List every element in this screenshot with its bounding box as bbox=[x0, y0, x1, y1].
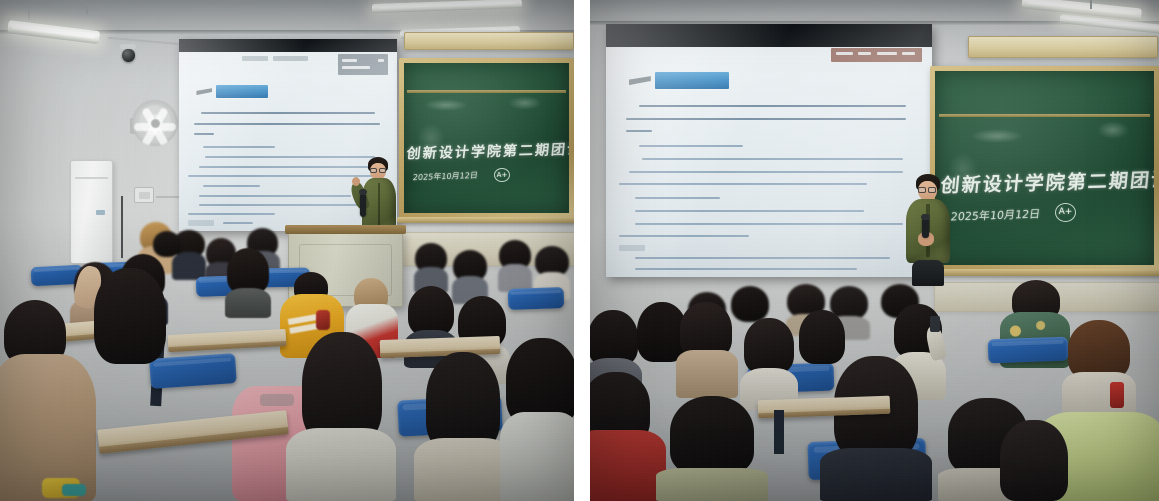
blackboard-date-text: 2025年10月12日 bbox=[950, 205, 1041, 224]
student bbox=[84, 268, 180, 428]
slide-text-line bbox=[642, 158, 903, 160]
slide-text-line bbox=[199, 166, 378, 168]
student bbox=[498, 240, 532, 292]
hoodie-graphic bbox=[316, 310, 330, 330]
slide-text-line bbox=[635, 197, 720, 199]
slide-text-line bbox=[194, 133, 214, 135]
glasses-icon bbox=[918, 187, 936, 193]
student-hair bbox=[1068, 320, 1130, 380]
slide-text-line bbox=[629, 171, 903, 173]
slide-text-line bbox=[201, 112, 375, 114]
ac-indicator bbox=[96, 210, 105, 215]
slide-heading bbox=[629, 72, 729, 89]
student bbox=[590, 372, 666, 501]
blackboard-title-text: 创新设计学院第二期团课 bbox=[939, 165, 1154, 198]
slide-text-line bbox=[626, 118, 906, 120]
slide-text-line bbox=[203, 146, 275, 148]
student-torso bbox=[656, 468, 768, 501]
air-conditioner-unit bbox=[70, 160, 113, 264]
student-hoodie bbox=[500, 412, 574, 501]
screen-glare bbox=[606, 24, 932, 277]
student-torso bbox=[286, 428, 396, 501]
slide-heading-number bbox=[196, 88, 212, 95]
slide-heading-highlight bbox=[655, 72, 729, 89]
chalk-smudge bbox=[508, 96, 542, 110]
slide-toolbar-badge bbox=[831, 48, 922, 62]
student-torso bbox=[414, 438, 514, 501]
lamp-hanger bbox=[86, 2, 88, 14]
slide-text-line bbox=[626, 130, 652, 132]
slide-text-line bbox=[188, 175, 373, 177]
lecture-seat bbox=[988, 337, 1069, 364]
presenter bbox=[900, 174, 960, 286]
slide-heading bbox=[196, 85, 268, 98]
presenter-lower bbox=[912, 260, 944, 286]
chalk-smudge bbox=[1097, 121, 1129, 139]
student-hair bbox=[1000, 420, 1068, 501]
blackboard: 创新设计学院第二期团课 2025年10月12日 A+ bbox=[935, 71, 1154, 265]
slide-text-line bbox=[635, 257, 889, 259]
slide-text-line bbox=[619, 235, 749, 237]
board-top-panel bbox=[968, 36, 1158, 58]
red-lanyard bbox=[1110, 382, 1124, 408]
slide-text-line bbox=[619, 183, 867, 185]
lecture-seat bbox=[508, 287, 565, 310]
slide-corner-badge bbox=[338, 54, 388, 75]
student bbox=[500, 338, 574, 501]
two-photo-composite: 创新设计学院第二期团课 2025年10月12日 A+ bbox=[0, 0, 1159, 501]
student-hair bbox=[670, 396, 754, 474]
right-photo: 创新设计学院第二期团课 2025年10月12日 A+ bbox=[590, 0, 1159, 501]
chalk-tray bbox=[928, 269, 1159, 276]
blackboard-frame: 创新设计学院第二期团课 2025年10月12日 A+ bbox=[399, 58, 574, 218]
slide-topbar bbox=[606, 24, 932, 47]
blackboard-rail bbox=[939, 114, 1149, 117]
student-hair bbox=[408, 286, 454, 336]
projection-screen-frame bbox=[606, 24, 932, 277]
projection-screen bbox=[606, 24, 932, 277]
slide-text-line bbox=[188, 213, 275, 215]
student bbox=[656, 396, 768, 501]
student-torso bbox=[225, 288, 271, 318]
blackboard-signature: A+ bbox=[494, 168, 510, 182]
fan-hub bbox=[151, 119, 160, 128]
security-camera-icon bbox=[122, 49, 135, 62]
chalk-smudge bbox=[424, 99, 468, 111]
slide-text-line bbox=[639, 105, 906, 107]
student-brown-hair bbox=[1062, 320, 1136, 426]
student bbox=[414, 352, 514, 501]
desk-leg bbox=[774, 410, 784, 454]
slide-subsection-tag bbox=[188, 220, 214, 226]
wall-outlet bbox=[134, 187, 154, 203]
slide-text-line bbox=[205, 156, 375, 158]
student bbox=[286, 332, 396, 501]
board-top-panel bbox=[404, 32, 574, 50]
teal-object-on-desk bbox=[62, 484, 86, 496]
podium-top bbox=[285, 225, 406, 234]
student bbox=[225, 248, 271, 318]
slide-text-line bbox=[639, 145, 743, 147]
student-torso bbox=[676, 350, 738, 398]
chalk-tray bbox=[397, 217, 574, 223]
student-face-mask bbox=[676, 302, 738, 398]
lamp-hanger bbox=[28, 4, 30, 20]
slide-heading-highlight bbox=[216, 85, 268, 98]
slide-text-line bbox=[194, 123, 379, 125]
slide-text-line bbox=[223, 222, 254, 224]
slide-text-line bbox=[635, 210, 863, 212]
slide-text-line bbox=[635, 223, 902, 225]
student bbox=[994, 420, 1074, 501]
hanging-cable bbox=[121, 196, 123, 258]
blackboard-title-text: 创新设计学院第二期团课 bbox=[406, 139, 569, 164]
lamp-hanger bbox=[1090, 0, 1092, 9]
blackboard-frame: 创新设计学院第二期团课 2025年10月12日 A+ bbox=[930, 66, 1159, 270]
wall-fan-icon bbox=[132, 100, 178, 146]
blackboard-signature: A+ bbox=[1055, 203, 1076, 222]
slide-heading-number bbox=[629, 76, 651, 85]
student-hair bbox=[94, 268, 166, 364]
student-hair bbox=[426, 352, 500, 452]
slide-subsection-tag bbox=[619, 245, 645, 251]
blackboard: 创新设计学院第二期团课 2025年10月12日 A+ bbox=[404, 63, 569, 213]
slide-text-line bbox=[203, 185, 260, 187]
slide-text-line bbox=[199, 204, 373, 206]
student-torso bbox=[590, 430, 666, 501]
student bbox=[820, 356, 932, 501]
slide-text-line bbox=[199, 195, 352, 197]
slide-text-line bbox=[635, 268, 857, 270]
chalk-smudge bbox=[970, 129, 1024, 143]
student-torso bbox=[820, 448, 932, 501]
blackboard-rail bbox=[407, 90, 565, 93]
slide-toolbar-chip bbox=[242, 56, 268, 61]
blackboard-date-text: 2025年10月12日 bbox=[412, 170, 478, 183]
glasses-icon bbox=[370, 168, 386, 173]
presenter-hand bbox=[352, 177, 360, 186]
microphone-icon bbox=[922, 218, 929, 238]
slide-topbar bbox=[179, 39, 397, 52]
left-photo: 创新设计学院第二期团课 2025年10月12日 A+ bbox=[0, 0, 574, 501]
slide-toolbar-chip bbox=[273, 56, 308, 61]
phone-icon bbox=[930, 316, 940, 332]
student-hair bbox=[744, 318, 794, 374]
microphone-icon bbox=[360, 193, 366, 217]
